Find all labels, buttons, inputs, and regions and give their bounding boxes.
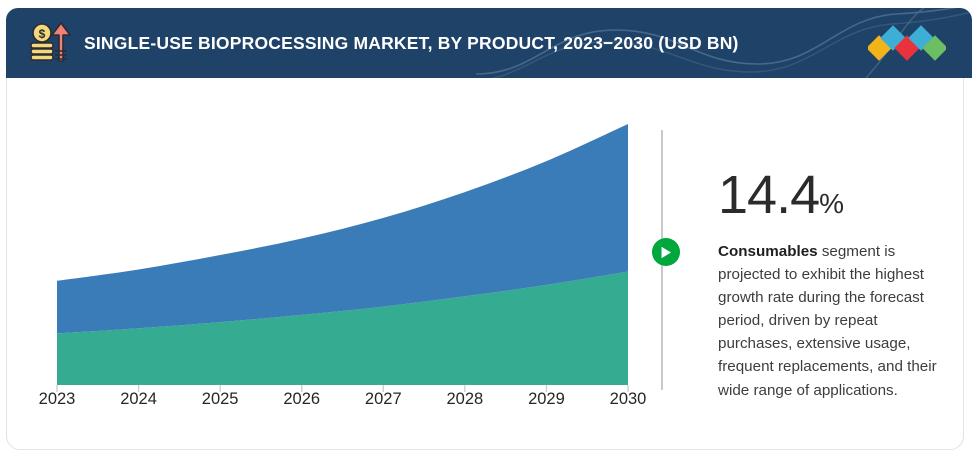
- x-axis-label: 2029: [528, 390, 565, 409]
- x-axis-label: 2024: [120, 390, 157, 409]
- insight-text: segment is projected to exhibit the high…: [718, 243, 937, 399]
- chart-series-group: [57, 124, 628, 385]
- diamond-logo-icon: [868, 24, 946, 66]
- play-triangle-icon: [660, 246, 672, 259]
- market-chart-infographic: $ SINGLE-USE BIOPROCESSING MARKET, BY PR…: [0, 0, 977, 464]
- stat-cagr: 14.4%: [718, 168, 946, 222]
- insight-highlight: Consumables: [718, 243, 818, 260]
- insight-panel: 14.4% Consumables segment is projected t…: [718, 168, 946, 402]
- x-axis-label: 2025: [202, 390, 239, 409]
- x-axis-label: 2026: [283, 390, 320, 409]
- x-axis-labels: 20232024202520262027202820292030: [0, 390, 660, 416]
- play-circle-icon[interactable]: [652, 238, 680, 266]
- insight-description: Consumables segment is projected to exhi…: [718, 240, 946, 402]
- stacked-area-chart: 20232024202520262027202820292030 Consuma…: [0, 60, 660, 408]
- x-axis-label: 2028: [446, 390, 483, 409]
- stat-unit: %: [819, 188, 844, 219]
- chart-plot-area: [0, 60, 660, 408]
- stat-value: 14.4: [718, 165, 819, 225]
- x-axis-label: 2027: [365, 390, 402, 409]
- x-axis-label: 2030: [610, 390, 647, 409]
- x-axis-label: 2023: [39, 390, 76, 409]
- svg-text:$: $: [39, 27, 46, 41]
